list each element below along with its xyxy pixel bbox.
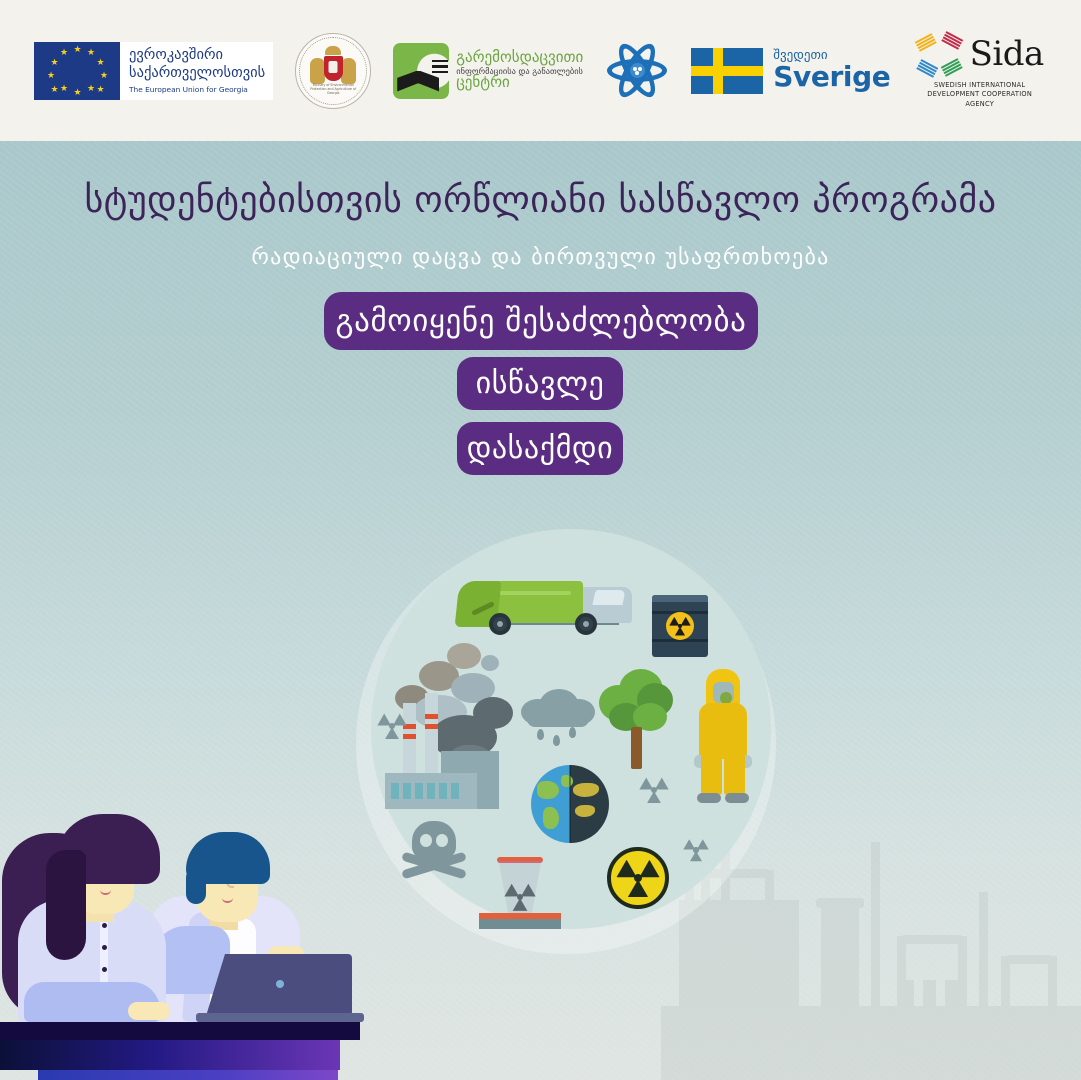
nuclear-cooling-tower-icon: [479, 857, 561, 929]
georgia-seal-caption: Ministry of Environmental Protection and…: [304, 83, 362, 96]
radiation-hazard-icon-small-1: [377, 711, 407, 741]
logo-government-of-georgia: Ministry of Environmental Protection and…: [295, 33, 371, 109]
page-title: სტუდენტებისთვის ორწლიანი სასწავლო პროგრა…: [0, 180, 1081, 221]
sida-wordmark: Sida: [970, 37, 1044, 71]
female-student-button-3: [102, 967, 107, 972]
male-student-sideburn: [186, 864, 206, 904]
radiation-hazard-icon-small-2: [639, 775, 669, 805]
eu-label-line1: ევროკავშირი: [129, 47, 265, 64]
sweden-label-en: Sverige: [773, 62, 890, 91]
logo-sweden: შვედეთი Sverige: [691, 48, 890, 94]
rain-cloud-icon: [521, 689, 599, 735]
radiation-hazard-icon-small-3: [683, 837, 709, 863]
two-students-at-laptop: [0, 780, 400, 1080]
eu-label-english: The European Union for Georgia: [129, 85, 265, 94]
female-student-button-2: [102, 945, 107, 950]
sida-subtitle: SWEDISH INTERNATIONAL DEVELOPMENT COOPER…: [912, 81, 1047, 110]
polluted-globe-icon: [531, 765, 609, 843]
atom-icon: [605, 39, 669, 103]
logo-sida: Sida SWEDISH INTERNATIONAL DEVELOPMENT C…: [912, 32, 1047, 110]
poster-body: სტუდენტებისთვის ორწლიანი სასწავლო პროგრა…: [0, 141, 1081, 1080]
eco-label-line3: ცენტრი: [456, 75, 583, 91]
eco-label-line1: გარემოსდაცვითი: [456, 50, 583, 66]
female-student-hair-side: [46, 850, 86, 960]
badge-study[interactable]: ისწავლე: [457, 357, 623, 410]
donor-logo-bar: ★ ★ ★ ★ ★ ★ ★ ★ ★ ★ ★ ★ ევროკავშირი საქა…: [0, 0, 1081, 141]
desk-surface: [0, 1022, 360, 1040]
tree-icon: [599, 669, 675, 769]
radiation-hazard-icon: [607, 847, 669, 909]
logo-european-union-for-georgia: ★ ★ ★ ★ ★ ★ ★ ★ ★ ★ ★ ★ ევროკავშირი საქა…: [34, 42, 273, 100]
page-subtitle: რადიაციული დაცვა და ბირთვული უსაფრთხოება: [0, 245, 1081, 270]
illustration-circle: [371, 529, 771, 929]
badge-opportunity[interactable]: გამოიყენე შესაძლებლობა: [324, 292, 758, 350]
eu-label-line2: საქართველოსთვის: [129, 65, 265, 82]
poster-root: ★ ★ ★ ★ ★ ★ ★ ★ ★ ★ ★ ★ ევროკავშირი საქა…: [0, 0, 1081, 1080]
laptop-base: [196, 1013, 364, 1022]
sida-pinwheel-icon: [916, 32, 962, 76]
female-student-hand: [128, 1002, 170, 1020]
sweden-flag-icon: [691, 48, 763, 94]
desk-accent-band: [0, 1038, 340, 1070]
eu-flag-icon: ★ ★ ★ ★ ★ ★ ★ ★ ★ ★ ★ ★: [34, 42, 120, 100]
skull-and-crossbones-icon: [399, 821, 469, 883]
eco-book-icon: [393, 43, 449, 99]
georgia-coat-of-arms-icon: Ministry of Environmental Protection and…: [295, 33, 371, 109]
garbage-truck-icon: [457, 565, 632, 631]
radioactive-barrel-icon: [652, 595, 708, 657]
logo-environmental-education-centre: გარემოსდაცვითი ინფორმაციისა და განათლები…: [393, 43, 583, 99]
laptop-logo-icon: [276, 980, 284, 988]
hazmat-suit-person-icon: [693, 669, 753, 803]
female-student-button-1: [102, 923, 107, 928]
logo-atom: [605, 39, 669, 103]
badge-get-employed[interactable]: დასაქმდი: [457, 422, 623, 475]
